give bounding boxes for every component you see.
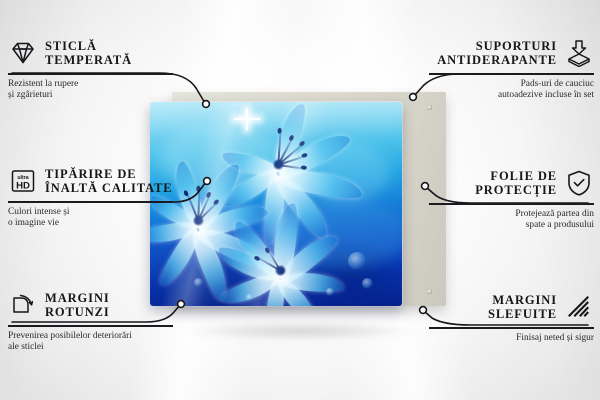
feature-divider bbox=[429, 73, 594, 75]
feature-tiparire-inalta-calitate: ultra HD TIPĂRIRE DE ÎNALTĂ CALITATE Cul… bbox=[8, 164, 173, 230]
shield-check-icon bbox=[564, 168, 594, 198]
feature-divider bbox=[8, 325, 173, 327]
feature-divider bbox=[8, 201, 173, 203]
feature-title: TIPĂRIRE DE ÎNALTĂ CALITATE bbox=[45, 167, 173, 195]
feature-title: FOLIE DE PROTECȚIE bbox=[475, 169, 557, 197]
feature-title: MARGINI SLEFUITE bbox=[488, 293, 557, 321]
feature-header: SUPORTURI ANTIDERAPANTE bbox=[429, 36, 594, 70]
feature-subtitle: Finisaj neted și sigur bbox=[429, 333, 594, 345]
feature-title: MARGINI ROTUNZI bbox=[45, 291, 110, 319]
feature-header: MARGINI SLEFUITE bbox=[429, 290, 594, 324]
feature-subtitle: Pads-uri de cauciuc autoadezive incluse … bbox=[429, 79, 594, 102]
feature-title: STICLĂ TEMPERATĂ bbox=[45, 39, 132, 67]
feature-margini-slefuite: MARGINI SLEFUITE Finisaj neted și sigur bbox=[429, 290, 594, 344]
feature-header: STICLĂ TEMPERATĂ bbox=[8, 36, 173, 70]
feature-subtitle: Culori intense și o imagine vie bbox=[8, 207, 173, 230]
feature-subtitle: Rezistent la rupere și zgârieturi bbox=[8, 79, 173, 102]
rounded-corner-icon bbox=[8, 290, 38, 320]
feature-divider bbox=[8, 73, 173, 75]
product-floor-shadow bbox=[135, 318, 465, 344]
diamond-icon bbox=[8, 38, 38, 68]
feature-divider bbox=[429, 203, 594, 205]
svg-text:HD: HD bbox=[16, 181, 30, 192]
feature-header: ultra HD TIPĂRIRE DE ÎNALTĂ CALITATE bbox=[8, 164, 173, 198]
feature-divider bbox=[429, 327, 594, 329]
feature-subtitle: Protejează partea din spate a produsului bbox=[429, 209, 594, 232]
feature-header: FOLIE DE PROTECȚIE bbox=[429, 166, 594, 200]
anti-slip-pad-icon bbox=[564, 38, 594, 68]
ultra-hd-icon: ultra HD bbox=[8, 166, 38, 196]
feature-sticla-temperata: STICLĂ TEMPERATĂ Rezistent la rupere și … bbox=[8, 36, 173, 102]
feature-margini-rotunzi: MARGINI ROTUNZI Prevenirea posibilelor d… bbox=[8, 288, 173, 354]
corner-pad bbox=[427, 105, 432, 110]
feature-subtitle: Prevenirea posibilelor deteriorări ale s… bbox=[8, 331, 173, 354]
feature-suporturi-antiderapante: SUPORTURI ANTIDERAPANTE Pads-uri de cauc… bbox=[429, 36, 594, 102]
feature-folie-de-protectie: FOLIE DE PROTECȚIE Protejează partea din… bbox=[429, 166, 594, 232]
polished-edge-icon bbox=[564, 292, 594, 322]
infographic-canvas: STICLĂ TEMPERATĂ Rezistent la rupere și … bbox=[0, 0, 600, 400]
glass-reflection-glare bbox=[150, 102, 402, 306]
feature-header: MARGINI ROTUNZI bbox=[8, 288, 173, 322]
glass-panel-with-print bbox=[150, 102, 402, 306]
feature-title: SUPORTURI ANTIDERAPANTE bbox=[437, 39, 557, 67]
product-image bbox=[150, 92, 446, 312]
